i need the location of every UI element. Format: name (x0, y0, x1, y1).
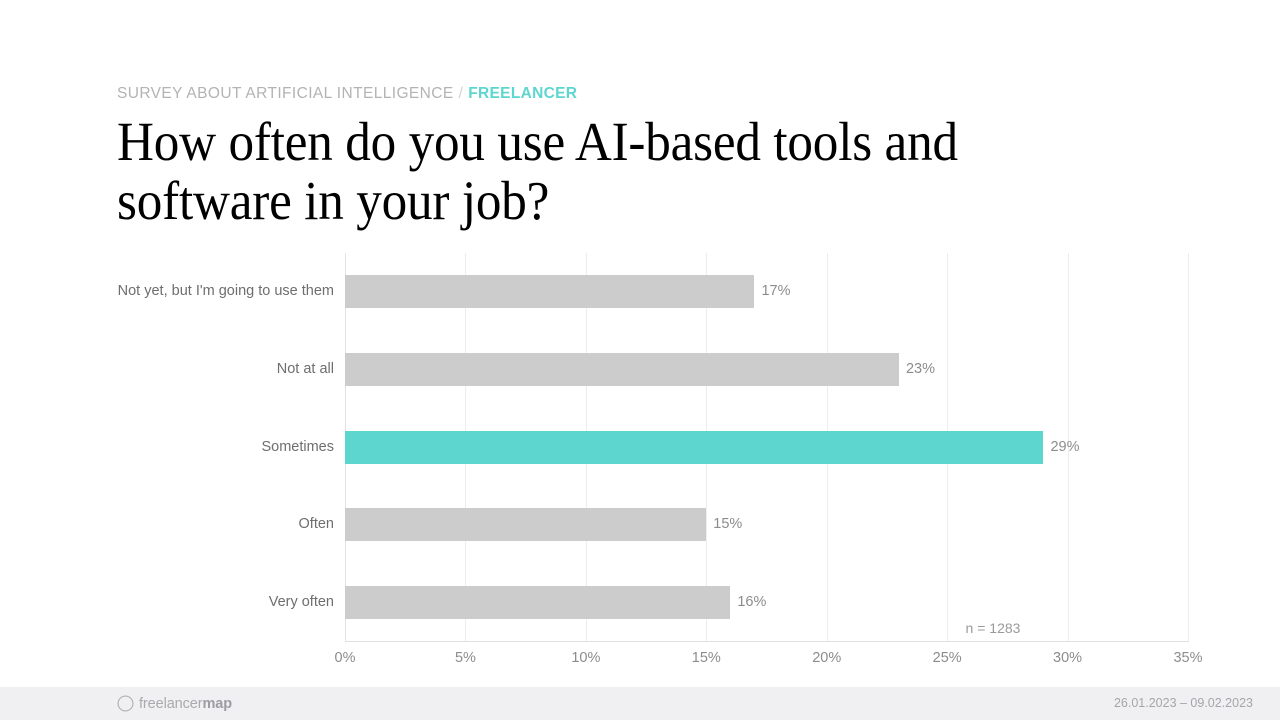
chart-x-axis-line (345, 641, 1189, 642)
chart-bar-value-label: 29% (1050, 431, 1079, 464)
footer-bar: freelancermap 26.01.2023 – 09.02.2023 (0, 687, 1280, 720)
chart-gridline (1188, 253, 1189, 641)
chart-x-tick-label: 20% (812, 650, 841, 666)
chart-bar (345, 586, 730, 619)
sample-size-annotation: n = 1283 (966, 620, 1021, 636)
chart-x-tick-label: 35% (1173, 650, 1202, 666)
chart-bar-value-label: 23% (906, 353, 935, 386)
chart-x-tick-label: 10% (571, 650, 600, 666)
freelancermap-logo: freelancermap (117, 687, 232, 720)
chart-x-tick-label: 30% (1053, 650, 1082, 666)
freelancermap-logo-icon (117, 695, 134, 712)
chart-x-tick-label: 15% (692, 650, 721, 666)
chart-category-label: Sometimes (74, 431, 334, 464)
bar-chart: Not yet, but I'm going to use themNot at… (0, 0, 1280, 690)
chart-category-label: Not at all (74, 353, 334, 386)
chart-bar-value-label: 15% (713, 508, 742, 541)
chart-bar (345, 353, 899, 386)
chart-category-label: Very often (74, 586, 334, 619)
chart-x-tick-label: 25% (933, 650, 962, 666)
chart-bar (345, 508, 706, 541)
chart-category-label: Not yet, but I'm going to use them (74, 275, 334, 308)
chart-bar (345, 431, 1043, 464)
freelancermap-logo-text: freelancermap (139, 696, 232, 712)
chart-bar-value-label: 17% (761, 275, 790, 308)
logo-text-light: freelancer (139, 696, 202, 712)
chart-category-axis: Not yet, but I'm going to use themNot at… (72, 253, 334, 641)
footer-date-range: 26.01.2023 – 09.02.2023 (1114, 687, 1253, 720)
chart-x-tick-label: 0% (335, 650, 356, 666)
chart-category-label: Often (74, 508, 334, 541)
chart-bar-value-label: 16% (737, 586, 766, 619)
chart-bar (345, 275, 754, 308)
chart-x-tick-label: 5% (455, 650, 476, 666)
logo-text-bold: map (202, 696, 232, 712)
